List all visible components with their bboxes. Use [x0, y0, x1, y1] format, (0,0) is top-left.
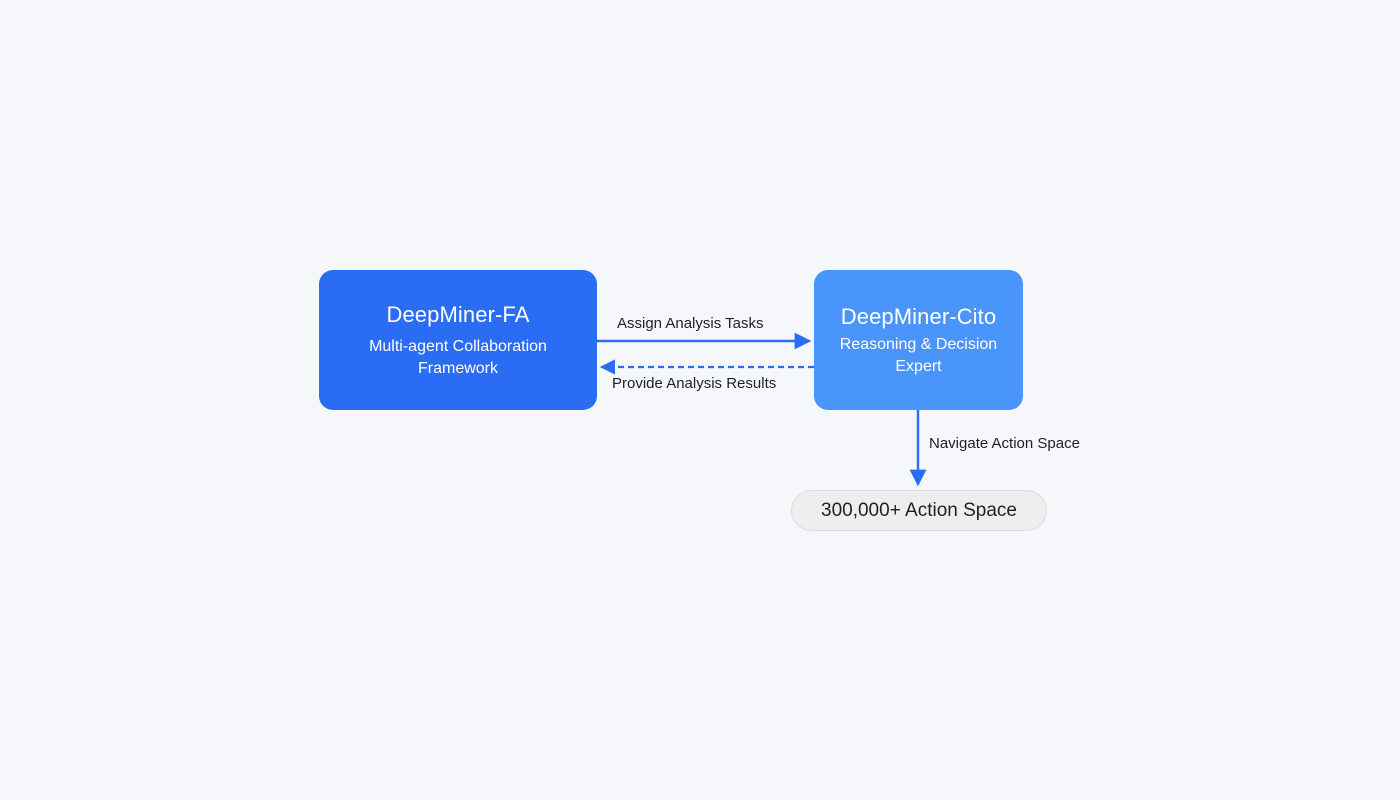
node-deepminer-cito[interactable]: DeepMiner-Cito Reasoning & Decision Expe…: [814, 270, 1023, 410]
diagram-canvas: DeepMiner-FA Multi-agent Collaboration F…: [0, 0, 1400, 800]
edge-label-navigate-action-space: Navigate Action Space: [929, 434, 1080, 454]
node-cito-title: DeepMiner-Cito: [841, 302, 996, 332]
edge-label-provide-analysis-results: Provide Analysis Results: [612, 374, 776, 394]
edge-label-assign-analysis-tasks: Assign Analysis Tasks: [617, 314, 763, 334]
node-cito-subtitle: Reasoning & Decision Expert: [814, 334, 1023, 378]
node-deepminer-fa[interactable]: DeepMiner-FA Multi-agent Collaboration F…: [319, 270, 597, 410]
node-action-space-label: 300,000+ Action Space: [821, 499, 1017, 523]
node-fa-subtitle: Multi-agent Collaboration Framework: [319, 336, 597, 380]
edge-layer: [0, 0, 1400, 800]
node-fa-title: DeepMiner-FA: [386, 300, 529, 330]
node-action-space[interactable]: 300,000+ Action Space: [791, 490, 1047, 531]
